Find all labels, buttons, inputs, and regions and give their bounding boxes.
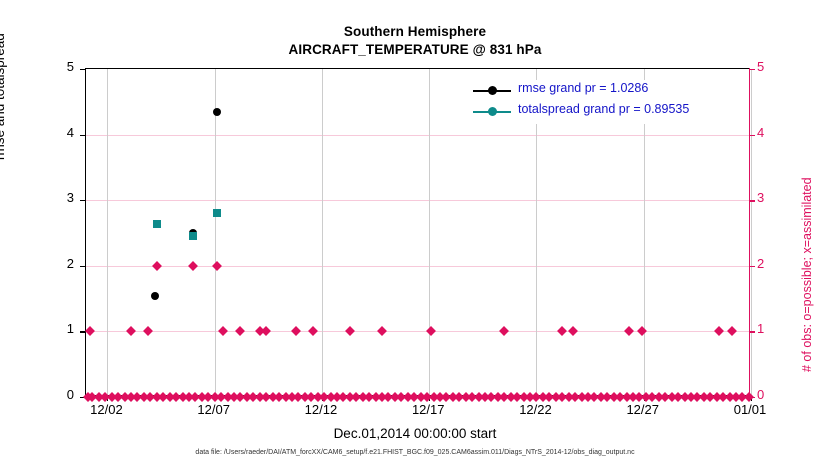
legend-marker-rmse <box>488 86 497 95</box>
x-tick-label: 12/17 <box>383 402 473 417</box>
y-axis-label-left: rmse and totalspread <box>0 0 7 160</box>
data-file-caption: data file: /Users/raeder/DAI/ATM_forcXX/… <box>0 449 830 456</box>
data-point <box>189 232 197 240</box>
data-point <box>218 326 228 336</box>
x-tick-label: 12/02 <box>61 402 151 417</box>
data-point <box>727 326 737 336</box>
gridline-vertical <box>322 69 323 395</box>
data-point <box>213 209 221 217</box>
x-tick-label: 01/01 <box>705 402 795 417</box>
data-point <box>291 326 301 336</box>
y-tick-left <box>80 69 86 70</box>
legend-label-rmse: rmse grand pr = 1.0286 <box>518 81 648 95</box>
gridline-vertical <box>215 69 216 395</box>
chart-legend: rmse grand pr = 1.0286 totalspread grand… <box>473 80 741 124</box>
data-point <box>85 326 95 336</box>
legend-entry-totalspread[interactable]: totalspread grand pr = 0.89535 <box>473 101 741 122</box>
y-tick-label-right: 4 <box>757 125 797 140</box>
legend-entry-rmse[interactable]: rmse grand pr = 1.0286 <box>473 80 741 101</box>
data-point <box>235 326 245 336</box>
data-point <box>152 261 162 271</box>
gridline-vertical <box>107 69 108 395</box>
y-tick-label-left: 5 <box>34 59 74 74</box>
gridline-horizontal <box>86 200 749 201</box>
y-tick-label-right: 5 <box>757 59 797 74</box>
y-tick-left <box>80 266 86 267</box>
x-tick-label: 12/12 <box>276 402 366 417</box>
y-tick-label-left: 3 <box>34 190 74 205</box>
right-axis-spine <box>749 68 750 397</box>
data-point <box>714 326 724 336</box>
x-tick-label: 12/27 <box>598 402 688 417</box>
data-point <box>153 220 161 228</box>
y-tick-label-left: 1 <box>34 321 74 336</box>
data-point <box>377 326 387 336</box>
y-tick-label-left: 0 <box>34 387 74 402</box>
x-tick-label: 12/22 <box>490 402 580 417</box>
y-tick-left <box>80 135 86 136</box>
data-point <box>143 326 153 336</box>
gridline-horizontal <box>86 331 749 332</box>
legend-marker-totalspread <box>488 107 497 116</box>
gridline-vertical <box>429 69 430 395</box>
y-tick-label-right: 0 <box>757 387 797 402</box>
data-point <box>213 108 221 116</box>
data-point <box>308 326 318 336</box>
y-tick-label-left: 4 <box>34 125 74 140</box>
y-tick-left <box>80 200 86 201</box>
chart-title-line1: Southern Hemisphere <box>0 24 830 39</box>
data-point <box>151 292 159 300</box>
y-tick-label-right: 3 <box>757 190 797 205</box>
data-point <box>188 261 198 271</box>
data-point <box>624 326 634 336</box>
y-tick-label-right: 2 <box>757 256 797 271</box>
data-point <box>261 326 271 336</box>
data-point <box>426 326 436 336</box>
y-tick-label-right: 1 <box>757 321 797 336</box>
chart-title-line2: AIRCRAFT_TEMPERATURE @ 831 hPa <box>0 42 830 57</box>
data-point <box>557 326 567 336</box>
x-axis-label: Dec.01,2014 00:00:00 start <box>0 426 830 441</box>
x-tick-label: 12/07 <box>169 402 259 417</box>
data-point <box>568 326 578 336</box>
data-point <box>345 326 355 336</box>
data-point <box>212 261 222 271</box>
y-axis-label-right: # of obs: o=possible; x=assimilated <box>800 52 814 372</box>
chart-figure: Southern Hemisphere AIRCRAFT_TEMPERATURE… <box>0 0 830 470</box>
data-point <box>126 326 136 336</box>
y-tick-label-left: 2 <box>34 256 74 271</box>
data-point <box>499 326 509 336</box>
data-point <box>637 326 647 336</box>
gridline-horizontal <box>86 266 749 267</box>
legend-label-totalspread: totalspread grand pr = 0.89535 <box>518 102 689 116</box>
gridline-vertical <box>751 69 752 395</box>
gridline-horizontal <box>86 135 749 136</box>
